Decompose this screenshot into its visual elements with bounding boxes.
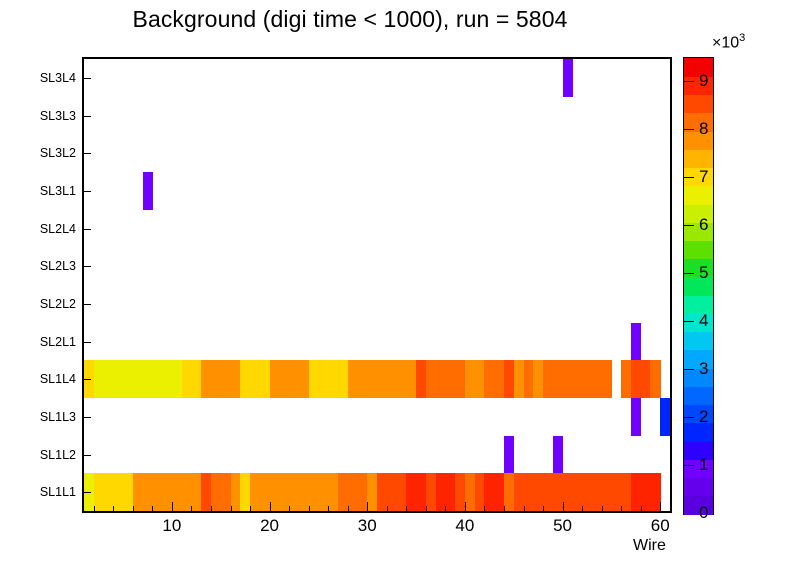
x-axis-minor-tick: [582, 506, 583, 513]
x-axis-minor-tick: [231, 506, 232, 513]
page-title: Background (digi time < 1000), run = 580…: [0, 6, 700, 33]
y-axis-label: SL1L2: [40, 448, 76, 462]
x-axis-minor-tick: [406, 506, 407, 513]
y-axis-tick: [82, 417, 91, 418]
y-axis-label: SL2L4: [40, 222, 76, 236]
x-axis-minor-tick: [113, 506, 114, 513]
color-scale-tick: [683, 273, 694, 274]
x-axis-minor-tick: [348, 506, 349, 513]
color-scale-tick: [683, 321, 694, 322]
y-axis-label: SL3L3: [40, 109, 76, 123]
color-scale-tick: [683, 417, 694, 418]
color-scale-tick-label: 8: [699, 119, 708, 139]
x-axis-minor-tick: [211, 506, 212, 513]
y-axis-tick: [82, 191, 91, 192]
color-scale-tick-label: 2: [699, 407, 708, 427]
color-scale-tick: [683, 225, 694, 226]
color-scale-segment: [684, 240, 713, 259]
y-axis-tick: [82, 78, 91, 79]
x-axis-minor-tick: [133, 506, 134, 513]
x-axis-minor-tick: [484, 506, 485, 513]
y-axis-labels: SL1L1SL1L2SL1L3SL1L4SL2L1SL2L2SL2L3SL2L4…: [0, 0, 76, 572]
heatmap-cells: [84, 59, 670, 511]
color-scale-tick: [683, 369, 694, 370]
x-axis-minor-tick: [94, 506, 95, 513]
color-scale-tick-label: 4: [699, 311, 708, 331]
x-axis-major-tick: [563, 502, 564, 513]
x-axis-minor-tick: [445, 506, 446, 513]
x-axis-tick-label: 20: [260, 516, 279, 536]
y-axis-tick: [82, 342, 91, 343]
color-scale-tick-label: 3: [699, 359, 708, 379]
y-axis-label: SL2L2: [40, 297, 76, 311]
color-scale-segment: [684, 386, 713, 405]
x-axis-major-tick: [172, 502, 173, 513]
color-scale-tick-label: 1: [699, 455, 708, 475]
heatmap-cell: [143, 172, 153, 210]
color-scale-tick-label: 0: [699, 503, 708, 523]
color-scale-segment: [684, 332, 713, 351]
y-axis-tick: [82, 492, 91, 493]
y-axis-label: SL1L1: [40, 485, 76, 499]
palette-exponent-power: 3: [739, 32, 745, 44]
y-axis-label: SL3L1: [40, 184, 76, 198]
y-axis-label: SL2L3: [40, 259, 76, 273]
x-axis-minor-tick: [426, 506, 427, 513]
y-axis-tick: [82, 455, 91, 456]
heatmap-cell: [563, 59, 573, 97]
x-axis-tick-label: 50: [553, 516, 572, 536]
y-axis-tick: [82, 229, 91, 230]
x-axis-minor-tick: [543, 506, 544, 513]
color-scale-tick-label: 5: [699, 263, 708, 283]
x-axis-minor-tick: [387, 506, 388, 513]
plot-frame: [82, 57, 672, 513]
palette-exponent: ×103: [712, 32, 745, 52]
y-axis-tick: [82, 304, 91, 305]
x-axis-major-tick: [367, 502, 368, 513]
x-axis-minor-tick: [328, 506, 329, 513]
heatmap-cell: [602, 360, 612, 398]
x-axis-tick-label: 30: [358, 516, 377, 536]
color-scale-tick-label: 6: [699, 215, 708, 235]
x-axis-minor-tick: [309, 506, 310, 513]
x-axis-major-tick: [465, 502, 466, 513]
heatmap-cell: [660, 398, 670, 436]
color-scale-tick: [683, 129, 694, 130]
y-axis-tick: [82, 116, 91, 117]
heatmap-cell: [631, 323, 641, 361]
x-axis-minor-tick: [250, 506, 251, 513]
x-axis-tick-label: 40: [455, 516, 474, 536]
y-axis-tick: [82, 153, 91, 154]
y-axis-tick: [82, 266, 91, 267]
x-axis-minor-tick: [289, 506, 290, 513]
heatmap-cell: [631, 398, 641, 436]
color-scale-tick: [683, 465, 694, 466]
color-scale-segment: [684, 94, 713, 113]
y-axis-label: SL3L4: [40, 71, 76, 85]
y-axis-label: SL1L4: [40, 372, 76, 386]
y-axis-label: SL2L1: [40, 335, 76, 349]
x-axis-minor-tick: [191, 506, 192, 513]
x-axis-minor-tick: [602, 506, 603, 513]
color-scale-tick-label: 7: [699, 167, 708, 187]
y-axis-label: SL1L3: [40, 410, 76, 424]
color-scale-segment: [684, 186, 713, 205]
color-scale-tick: [683, 81, 694, 82]
x-axis-tick-label: 60: [651, 516, 670, 536]
color-scale-tick: [683, 177, 694, 178]
x-axis-minor-tick: [152, 506, 153, 513]
heatmap-cell: [504, 436, 514, 474]
palette-exponent-base: ×10: [712, 34, 739, 51]
y-axis-label: SL3L2: [40, 146, 76, 160]
color-scale-tick-label: 9: [699, 71, 708, 91]
x-axis-minor-tick: [641, 506, 642, 513]
x-axis-major-tick: [660, 502, 661, 513]
x-axis-minor-tick: [504, 506, 505, 513]
color-scale-segment: [684, 149, 713, 168]
canvas: Background (digi time < 1000), run = 580…: [0, 0, 796, 572]
x-axis-tick-label: 10: [162, 516, 181, 536]
heatmap-cell: [650, 360, 660, 398]
x-axis-minor-tick: [621, 506, 622, 513]
x-axis-major-tick: [270, 502, 271, 513]
x-axis-title: Wire: [633, 537, 666, 555]
color-scale-segment: [684, 478, 713, 497]
y-axis-tick: [82, 379, 91, 380]
heatmap-cell: [553, 436, 563, 474]
x-axis-minor-tick: [524, 506, 525, 513]
